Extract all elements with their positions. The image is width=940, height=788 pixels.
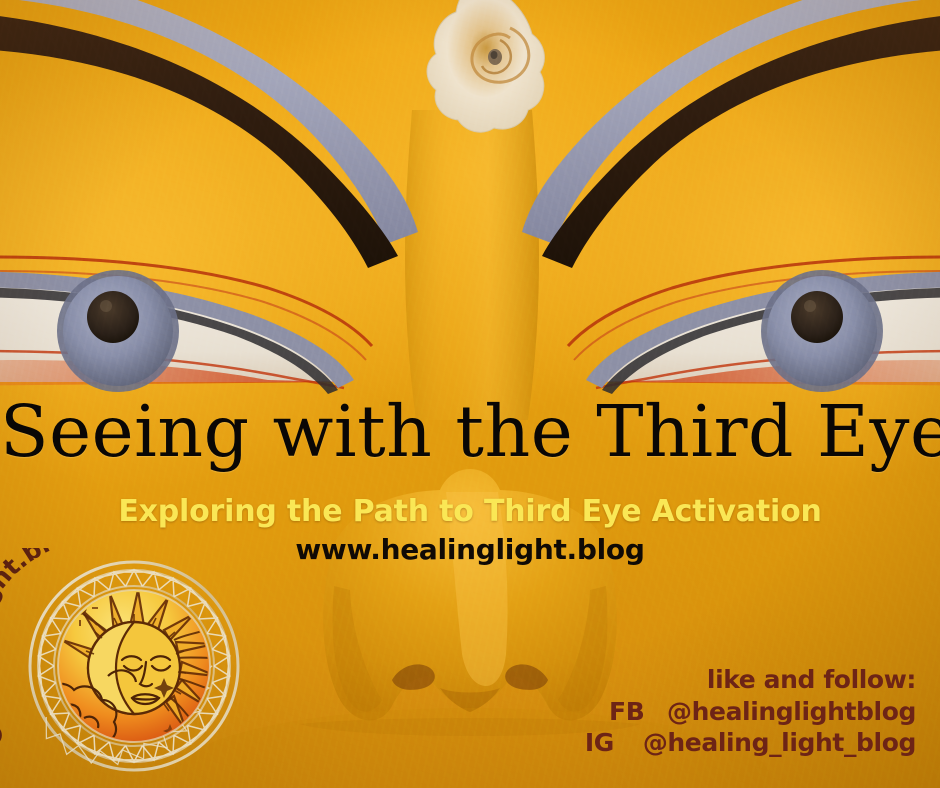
brand-logo[interactable] bbox=[18, 548, 250, 780]
social-row-facebook[interactable]: FB @healinglightblog bbox=[585, 696, 916, 727]
social-cta-label: like and follow: bbox=[585, 664, 916, 695]
social-network-fb: FB bbox=[609, 696, 667, 727]
social-row-instagram[interactable]: IG @healing_light_blog bbox=[585, 727, 916, 758]
page-title: Seeing with the Third Eye bbox=[0, 396, 940, 467]
social-network-ig: IG bbox=[585, 727, 643, 758]
social-handle-ig[interactable]: @healing_light_blog bbox=[643, 727, 916, 758]
urna-forehead-ornament bbox=[427, 0, 544, 132]
social-handle-fb[interactable]: @healinglightblog bbox=[667, 696, 916, 727]
social-follow-block: like and follow: FB @healinglightblog IG… bbox=[585, 664, 916, 758]
headline-container: Seeing with the Third Eye bbox=[0, 396, 940, 467]
page-subtitle: Exploring the Path to Third Eye Activati… bbox=[0, 494, 940, 529]
poster-root: Seeing with the Third Eye Exploring the … bbox=[0, 0, 940, 788]
